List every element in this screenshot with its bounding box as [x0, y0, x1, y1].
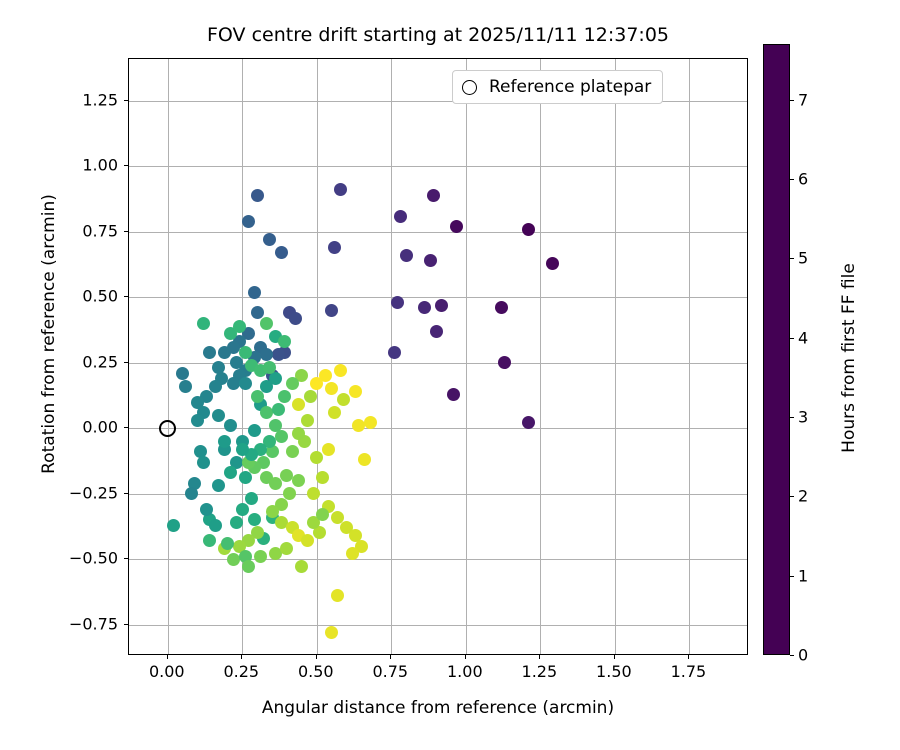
y-tick-mark — [124, 558, 128, 559]
scatter-point — [197, 317, 210, 330]
gridline-horizontal — [129, 166, 747, 167]
x-tick-mark — [539, 655, 540, 659]
scatter-point — [322, 443, 335, 456]
x-tick-mark — [167, 655, 168, 659]
scatter-point — [391, 296, 404, 309]
scatter-point — [239, 471, 252, 484]
y-tick-label: 0.75 — [0, 221, 118, 240]
scatter-point — [430, 325, 443, 338]
colorbar-tick-mark — [790, 496, 794, 497]
scatter-point — [418, 301, 431, 314]
scatter-point — [269, 477, 282, 490]
colorbar-tick-label: 7 — [798, 90, 808, 109]
scatter-point — [310, 451, 323, 464]
colorbar-tick-label: 2 — [798, 487, 808, 506]
gridline-vertical — [689, 59, 690, 654]
scatter-point — [260, 406, 273, 419]
scatter-point — [251, 390, 264, 403]
scatter-point — [248, 513, 261, 526]
gridline-horizontal — [129, 625, 747, 626]
colorbar-tick-label: 3 — [798, 407, 808, 426]
reference-platepar-marker — [159, 420, 176, 437]
scatter-point — [280, 542, 293, 555]
scatter-point — [337, 393, 350, 406]
y-tick-mark — [124, 427, 128, 428]
scatter-point — [251, 189, 264, 202]
x-tick-mark — [316, 655, 317, 659]
scatter-point — [221, 537, 234, 550]
x-tick-mark — [614, 655, 615, 659]
scatter-point — [394, 210, 407, 223]
scatter-point — [325, 626, 338, 639]
scatter-point — [349, 385, 362, 398]
y-tick-label: 0.25 — [0, 352, 118, 371]
scatter-point — [191, 414, 204, 427]
scatter-point — [272, 403, 285, 416]
scatter-point — [275, 430, 288, 443]
gridline-vertical — [615, 59, 616, 654]
x-tick-label: 0.50 — [298, 662, 334, 681]
y-tick-mark — [124, 100, 128, 101]
scatter-point — [334, 183, 347, 196]
scatter-point — [331, 589, 344, 602]
scatter-point — [236, 443, 249, 456]
gridline-vertical — [466, 59, 467, 654]
scatter-point — [304, 390, 317, 403]
y-tick-label: 1.25 — [0, 90, 118, 109]
colorbar-tick-mark — [790, 100, 794, 101]
scatter-point — [289, 312, 302, 325]
scatter-point — [227, 553, 240, 566]
colorbar-tick-label: 6 — [798, 169, 808, 188]
x-tick-label: 1.25 — [522, 662, 558, 681]
y-tick-label: −0.25 — [0, 483, 118, 502]
scatter-point — [310, 377, 323, 390]
y-tick-label: 1.00 — [0, 156, 118, 175]
scatter-point — [230, 516, 243, 529]
colorbar-tick-mark — [790, 179, 794, 180]
scatter-point — [325, 382, 338, 395]
x-tick-mark — [390, 655, 391, 659]
scatter-point — [197, 456, 210, 469]
x-tick-mark — [241, 655, 242, 659]
scatter-point — [176, 367, 189, 380]
colorbar-tick-label: 4 — [798, 328, 808, 347]
gridline-horizontal — [129, 297, 747, 298]
scatter-point — [328, 406, 341, 419]
y-tick-mark — [124, 624, 128, 625]
y-tick-label: −0.75 — [0, 614, 118, 633]
scatter-point — [218, 346, 231, 359]
x-tick-label: 0.25 — [223, 662, 259, 681]
scatter-point — [447, 388, 460, 401]
scatter-point — [212, 409, 225, 422]
x-axis-label: Angular distance from reference (arcmin) — [128, 698, 748, 718]
colorbar-tick-label: 1 — [798, 566, 808, 585]
scatter-point — [278, 390, 291, 403]
y-tick-mark — [124, 165, 128, 166]
scatter-point — [316, 471, 329, 484]
gridline-horizontal — [129, 559, 747, 560]
scatter-point — [292, 398, 305, 411]
scatter-point — [254, 550, 267, 563]
colorbar-tick-mark — [790, 338, 794, 339]
scatter-point — [224, 466, 237, 479]
scatter-plot-axes — [128, 58, 748, 655]
scatter-point — [286, 377, 299, 390]
scatter-point — [301, 534, 314, 547]
scatter-point — [358, 453, 371, 466]
scatter-point — [400, 249, 413, 262]
x-tick-mark — [465, 655, 466, 659]
y-tick-label: 0.00 — [0, 418, 118, 437]
y-tick-label: 0.50 — [0, 287, 118, 306]
gridline-vertical — [317, 59, 318, 654]
y-tick-mark — [124, 362, 128, 363]
scatter-point — [224, 419, 237, 432]
scatter-point — [236, 503, 249, 516]
colorbar-label: Hours from first FF file — [839, 58, 859, 658]
scatter-point — [427, 189, 440, 202]
x-tick-label: 0.00 — [149, 662, 185, 681]
scatter-point — [227, 377, 240, 390]
page-title: FOV centre drift starting at 2025/11/11 … — [128, 24, 748, 46]
scatter-point — [263, 233, 276, 246]
scatter-point — [203, 534, 216, 547]
scatter-point — [248, 424, 261, 437]
scatter-point — [218, 435, 231, 448]
colorbar-tick-mark — [790, 576, 794, 577]
gridline-horizontal — [129, 232, 747, 233]
colorbar-tick-mark — [790, 417, 794, 418]
scatter-point — [388, 346, 401, 359]
scatter-point — [242, 560, 255, 573]
scatter-point — [242, 215, 255, 228]
scatter-point — [325, 304, 338, 317]
scatter-point — [424, 254, 437, 267]
scatter-point — [185, 487, 198, 500]
scatter-point — [200, 503, 213, 516]
gridline-horizontal — [129, 428, 747, 429]
scatter-point — [522, 223, 535, 236]
x-tick-label: 1.00 — [447, 662, 483, 681]
scatter-point — [301, 414, 314, 427]
scatter-point — [230, 356, 243, 369]
y-tick-mark — [124, 296, 128, 297]
y-tick-mark — [124, 231, 128, 232]
legend-entry-label: Reference platepar — [489, 77, 651, 97]
x-tick-label: 1.50 — [596, 662, 632, 681]
scatter-point — [328, 241, 341, 254]
colorbar-tick-mark — [790, 655, 794, 656]
x-tick-label: 1.75 — [671, 662, 707, 681]
scatter-point — [179, 380, 192, 393]
scatter-point — [283, 487, 296, 500]
scatter-point — [292, 474, 305, 487]
scatter-point — [286, 445, 299, 458]
scatter-point — [498, 356, 511, 369]
scatter-point — [546, 257, 559, 270]
x-tick-mark — [688, 655, 689, 659]
x-tick-label: 0.75 — [372, 662, 408, 681]
scatter-point — [260, 348, 273, 361]
scatter-point — [203, 346, 216, 359]
scatter-point — [212, 479, 225, 492]
y-tick-label: −0.50 — [0, 549, 118, 568]
legend: Reference platepar — [452, 70, 663, 104]
matplotlib-figure: FOV centre drift starting at 2025/11/11 … — [0, 0, 900, 750]
scatter-point — [275, 246, 288, 259]
scatter-point — [278, 335, 291, 348]
colorbar — [763, 44, 790, 655]
scatter-point — [334, 364, 347, 377]
gridline-horizontal — [129, 494, 747, 495]
scatter-point — [307, 487, 320, 500]
y-tick-mark — [124, 493, 128, 494]
scatter-point — [239, 377, 252, 390]
scatter-point — [295, 560, 308, 573]
scatter-point — [233, 320, 246, 333]
scatter-point — [272, 348, 285, 361]
scatter-point — [495, 301, 508, 314]
scatter-point — [248, 286, 261, 299]
gridline-vertical — [540, 59, 541, 654]
scatter-point — [260, 317, 273, 330]
scatter-point — [435, 299, 448, 312]
scatter-point — [245, 492, 258, 505]
gridline-vertical — [168, 59, 169, 654]
colorbar-tick-mark — [790, 258, 794, 259]
open-circle-icon — [462, 80, 477, 95]
colorbar-tick-label: 0 — [798, 646, 808, 665]
y-axis-label: Rotation from reference (arcmin) — [39, 34, 59, 634]
scatter-point — [167, 519, 180, 532]
colorbar-tick-label: 5 — [798, 249, 808, 268]
scatter-point — [316, 508, 329, 521]
scatter-point — [209, 519, 222, 532]
